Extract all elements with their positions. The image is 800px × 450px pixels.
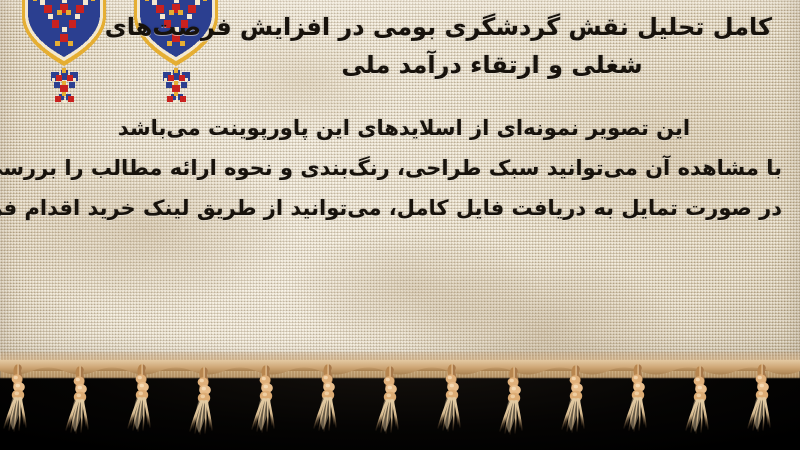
black-backing xyxy=(0,370,800,450)
slide-title: کامل تحلیل نقش گردشگری بومی در افزایش فر… xyxy=(212,8,772,84)
slide-canvas: کامل تحلیل نقش گردشگری بومی در افزایش فر… xyxy=(0,0,800,450)
woven-canvas-texture: کامل تحلیل نقش گردشگری بومی در افزایش فر… xyxy=(0,0,800,372)
slide-body: این تصویر نمونه‌ای از اسلایدهای این پاور… xyxy=(26,108,782,228)
slide-body-line-3: در صورت تمایل به دریافت فایل کامل، می‌تو… xyxy=(26,188,782,228)
slide-title-line-2: شغلی و ارتقاء درآمد ملی xyxy=(212,46,772,84)
selvedge-edge xyxy=(0,352,800,378)
slide-body-line-2: با مشاهده آن می‌توانید سبک طراحی، رنگ‌بن… xyxy=(26,148,782,188)
slide-body-line-1: این تصویر نمونه‌ای از اسلایدهای این پاور… xyxy=(26,108,782,148)
slide-title-line-1: کامل تحلیل نقش گردشگری بومی در افزایش فر… xyxy=(212,8,772,46)
text-layer: کامل تحلیل نقش گردشگری بومی در افزایش فر… xyxy=(0,0,800,372)
